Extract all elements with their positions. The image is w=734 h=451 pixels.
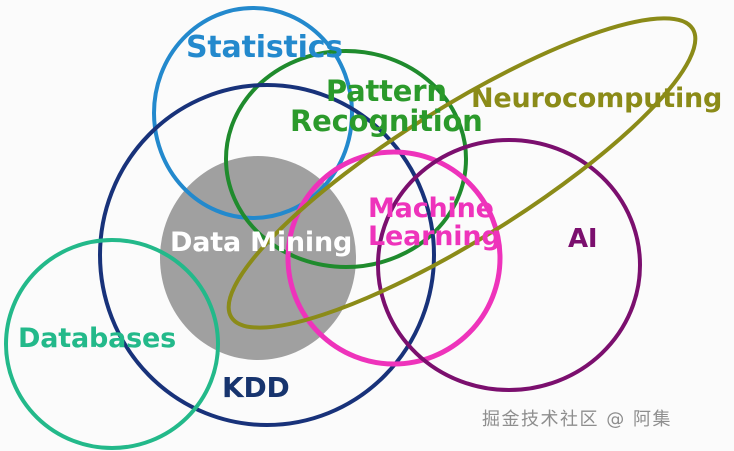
venn-shapes-layer <box>0 0 734 451</box>
databases-circle <box>6 240 218 448</box>
venn-shape-group <box>6 0 728 448</box>
ai-ellipse <box>378 140 640 390</box>
venn-diagram-canvas: Statistics Pattern Recognition Neurocomp… <box>0 0 734 451</box>
